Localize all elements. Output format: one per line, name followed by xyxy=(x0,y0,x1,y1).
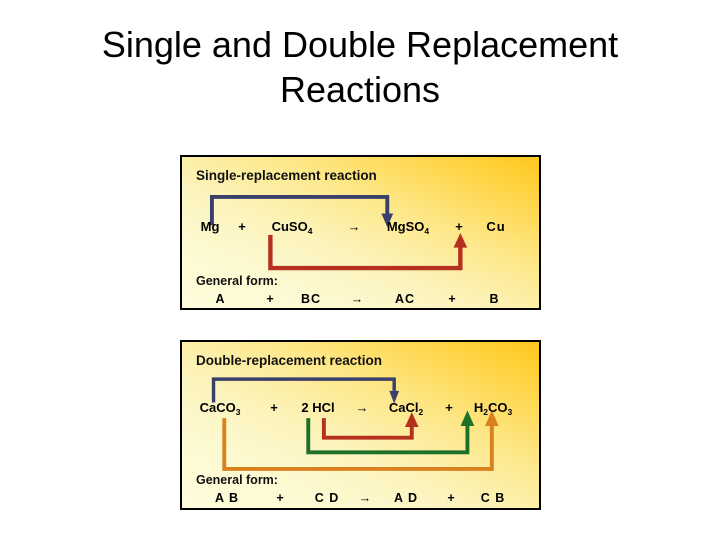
eq-term-mg: Mg xyxy=(201,219,220,234)
page-title-line-2: Reactions xyxy=(0,67,720,112)
gen-term-a: A xyxy=(215,292,224,306)
red-arrow-cuso4-to-cu xyxy=(270,233,467,268)
eq-term-2hcl: 2 HCl xyxy=(301,400,334,415)
eq-term-cuso4: CuSO4 xyxy=(272,219,313,234)
eq-term-mgso4: MgSO4 xyxy=(387,219,429,234)
eq-reaction-arrow: → xyxy=(356,400,369,415)
double-replacement-panel: Double-replacement reaction CaCO3 + 2 HC… xyxy=(180,340,541,510)
single-general-form-label: General form: xyxy=(196,274,278,288)
gen-term-plus-1: + xyxy=(266,292,273,306)
double-general-form-label: General form: xyxy=(196,473,278,487)
orange-arrow-co3-to-h2co3 xyxy=(224,410,498,469)
eq-reaction-arrow: → xyxy=(348,219,361,234)
gen-term-b: B xyxy=(489,292,498,306)
eq-term-plus-2: + xyxy=(455,219,463,234)
gen-term-cb: C B xyxy=(481,491,506,505)
single-general-form-equation: A + BC → AC + B xyxy=(182,292,541,310)
eq-term-plus-1: + xyxy=(270,400,278,415)
page-title-line-1: Single and Double Replacement xyxy=(0,22,720,67)
single-replacement-panel: Single-replacement reaction Mg + CuSO4 →… xyxy=(180,155,541,310)
gen-term-plus-1: + xyxy=(276,491,283,505)
eq-term-plus-1: + xyxy=(238,219,246,234)
double-replacement-equation: CaCO3 + 2 HCl → CaCl2 + H2CO3 xyxy=(182,400,541,418)
gen-term-ad: A D xyxy=(394,491,418,505)
eq-term-h2co3: H2CO3 xyxy=(474,400,512,415)
gen-term-bc: BC xyxy=(301,292,321,306)
double-replacement-heading: Double-replacement reaction xyxy=(196,353,382,368)
gen-term-plus-2: + xyxy=(448,292,455,306)
page-title: Single and Double Replacement Reactions xyxy=(0,22,720,112)
gen-term-cd: C D xyxy=(315,491,340,505)
eq-term-plus-2: + xyxy=(445,400,453,415)
single-replacement-equation: Mg + CuSO4 → MgSO4 + Cu xyxy=(182,219,541,237)
gen-term-ac: AC xyxy=(395,292,415,306)
single-replacement-heading: Single-replacement reaction xyxy=(196,168,377,183)
gen-reaction-arrow: → xyxy=(351,292,364,306)
gen-term-plus-2: + xyxy=(447,491,454,505)
eq-term-cu: Cu xyxy=(486,219,505,234)
gen-reaction-arrow: → xyxy=(359,491,372,505)
gen-term-ab: A B xyxy=(215,491,239,505)
eq-term-cacl2: CaCl2 xyxy=(389,400,423,415)
eq-term-caco3: CaCO3 xyxy=(200,400,241,415)
double-general-form-equation: A B + C D → A D + C B xyxy=(182,491,541,509)
